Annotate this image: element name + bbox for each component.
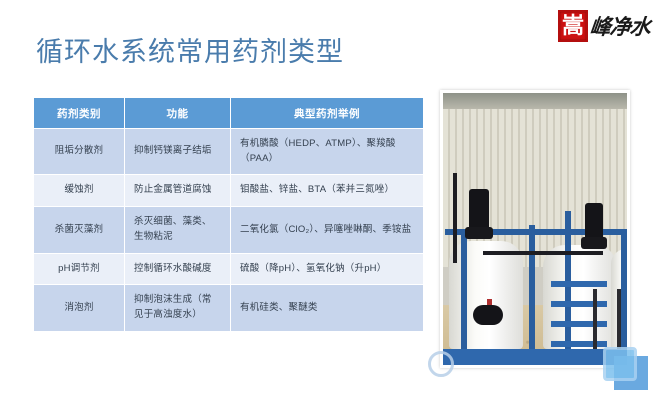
equipment-photo <box>440 90 630 368</box>
brand-logo: 嵩 峰净水 <box>558 8 650 44</box>
table-row: 阻垢分散剂 抑制钙镁离子结垢 有机膦酸（HEDP、ATMP）、聚羧酸（PAA） <box>34 129 423 174</box>
horizontal-pipe <box>483 251 603 255</box>
steel-post <box>621 229 627 351</box>
cell-function: 抑制钙镁离子结垢 <box>125 129 230 174</box>
vertical-pipe <box>617 289 621 355</box>
table-row: 缓蚀剂 防止金属管道腐蚀 钼酸盐、锌盐、BTA（苯并三氮唑） <box>34 175 423 206</box>
column-header-function: 功能 <box>125 98 230 128</box>
steel-post <box>461 229 467 351</box>
cell-examples: 钼酸盐、锌盐、BTA（苯并三氮唑） <box>231 175 423 206</box>
platform-shadow <box>443 365 630 368</box>
cell-category: 阻垢分散剂 <box>34 129 124 174</box>
cell-function: 杀灭细菌、藻类、生物粘泥 <box>125 207 230 252</box>
cell-category: 杀菌灭藻剂 <box>34 207 124 252</box>
table-header-row: 药剂类别 功能 典型药剂举例 <box>34 98 423 128</box>
agents-table-container: 药剂类别 功能 典型药剂举例 阻垢分散剂 抑制钙镁离子结垢 有机膦酸（HEDP、… <box>33 97 420 332</box>
cell-category: 消泡剂 <box>34 285 124 330</box>
decorative-circle <box>428 351 454 377</box>
column-header-category: 药剂类别 <box>34 98 124 128</box>
cell-category: pH调节剂 <box>34 254 124 285</box>
slide-canvas: 嵩 峰净水 循环水系统常用药剂类型 药剂类别 功能 典型药剂举例 阻垢分散剂 抑… <box>0 0 660 400</box>
cell-examples: 二氧化氯（ClO₂）、异噻唑啉酮、季铵盐 <box>231 207 423 252</box>
agents-table: 药剂类别 功能 典型药剂举例 阻垢分散剂 抑制钙镁离子结垢 有机膦酸（HEDP、… <box>33 97 424 332</box>
cell-function: 防止金属管道腐蚀 <box>125 175 230 206</box>
seal-icon: 嵩 <box>558 10 588 42</box>
dosing-pump-motor <box>585 203 603 241</box>
access-stairs <box>551 279 607 353</box>
platform-deck <box>443 349 630 365</box>
photo-roof-edge <box>443 93 627 109</box>
decorative-square-front <box>603 347 637 381</box>
cell-category: 缓蚀剂 <box>34 175 124 206</box>
cell-function: 控制循环水酸碱度 <box>125 254 230 285</box>
cell-examples: 有机硅类、聚醚类 <box>231 285 423 330</box>
brand-wordmark: 峰净水 <box>588 11 651 41</box>
cell-function: 抑制泡沫生成（常见于高浊度水） <box>125 285 230 330</box>
vertical-pipe <box>593 289 597 355</box>
table-row: 消泡剂 抑制泡沫生成（常见于高浊度水） 有机硅类、聚醚类 <box>34 285 423 330</box>
cell-examples: 硫酸（降pH）、氢氧化钠（升pH） <box>231 254 423 285</box>
dosing-pump-motor <box>469 189 489 231</box>
column-header-examples: 典型药剂举例 <box>231 98 423 128</box>
table-row: pH调节剂 控制循环水酸碱度 硫酸（降pH）、氢氧化钠（升pH） <box>34 254 423 285</box>
vertical-pipe <box>453 173 457 263</box>
page-title: 循环水系统常用药剂类型 <box>36 30 344 69</box>
cell-examples: 有机膦酸（HEDP、ATMP）、聚羧酸（PAA） <box>231 129 423 174</box>
circulation-pump <box>473 305 503 325</box>
table-row: 杀菌灭藻剂 杀灭细菌、藻类、生物粘泥 二氧化氯（ClO₂）、异噻唑啉酮、季铵盐 <box>34 207 423 252</box>
steel-post <box>529 225 535 351</box>
